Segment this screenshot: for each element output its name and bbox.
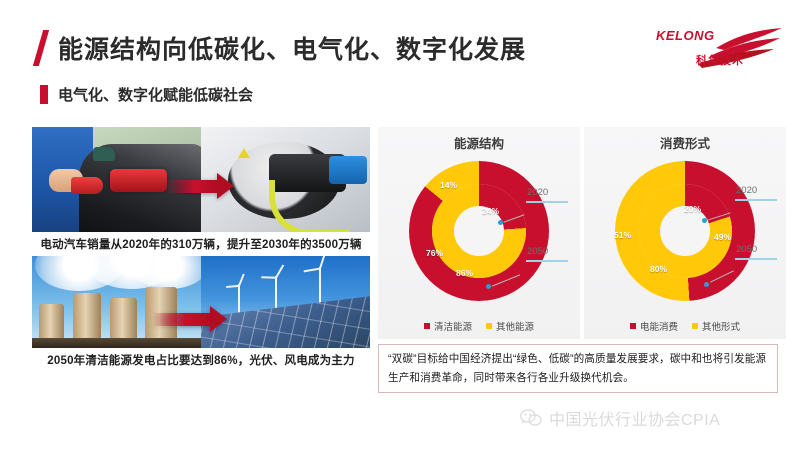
pct-label-outer-other: 51% [614, 230, 631, 240]
charge-cable-shape [269, 180, 349, 233]
photo-caption-ev: 电动汽车销量从2020年的310万辆，提升至2030年的3500万辆 [32, 232, 370, 256]
turbine-blade-shape [304, 268, 321, 273]
transition-arrow-icon [167, 173, 234, 199]
ground-shape [32, 338, 201, 348]
chart-title-consumption-form: 消费形式 [584, 133, 786, 152]
leader-dot-2020 [702, 218, 707, 223]
legend-item-clean-energy[interactable]: 清洁能源 [424, 319, 472, 333]
donut-inner-ring-2020 [432, 184, 526, 278]
pct-label-outer-clean: 86% [456, 268, 473, 278]
cooling-tower-shape [39, 304, 64, 341]
chart-panel-energy-structure: 能源结构 14% 86% 24% 76% 2020 2050 [378, 127, 580, 339]
pct-label-outer-electric: 49% [714, 232, 731, 242]
legend-item-electric-consumption[interactable]: 电能消费 [630, 319, 678, 333]
year-label-2020: 2020 [527, 187, 548, 198]
turbine-blade-shape [275, 265, 284, 279]
pct-label-inner-other: 80% [650, 264, 667, 274]
year-underline-2050 [526, 260, 568, 262]
page-title: 能源结构向低碳化、电气化、数字化发展 [58, 30, 526, 66]
page-subtitle: 电气化、数字化赋能低碳社会 [58, 84, 253, 105]
callout-box: “双碳”目标给中国经济提出“绿色、低碳”的高质量发展要求，碳中和也将引发能源生产… [378, 344, 778, 393]
legend-swatch-electric-consumption [630, 323, 636, 329]
transition-arrow-icon [154, 306, 227, 332]
warning-triangle-icon [238, 148, 250, 158]
chart-panel-consumption-form: 消费形式 20% 49% 51% 80% 2020 2050 [584, 127, 786, 339]
legend-item-other-form[interactable]: 其他形式 [692, 319, 740, 333]
cooling-tower-shape [110, 298, 137, 340]
photo-caption-energy: 2050年清洁能源发电占比要达到86%，光伏、风电成为主力 [32, 348, 370, 372]
donut-chart-energy-structure[interactable]: 14% 86% 24% 76% [404, 156, 554, 306]
wechat-icon [520, 409, 542, 427]
year-underline-2020 [526, 201, 568, 203]
photo-pair-energy [32, 256, 370, 348]
car-taillight-shape [110, 169, 167, 192]
brand-logo: KELONG 科华技术 [654, 22, 784, 74]
year-label-2050: 2050 [527, 246, 548, 257]
legend-label-other-energy: 其他能源 [496, 319, 534, 333]
pct-label-inner-clean: 24% [482, 206, 499, 216]
legend-swatch-clean-energy [424, 323, 430, 329]
page-title-row: 能源结构向低碳化、电气化、数字化发展 [38, 30, 526, 66]
legend-item-other-energy[interactable]: 其他能源 [486, 319, 534, 333]
year-underline-2050 [735, 258, 777, 260]
photo-column: 电动汽车销量从2020年的310万辆，提升至2030年的3500万辆 [32, 127, 370, 372]
cooling-tower-shape [73, 293, 102, 341]
title-accent-slash-icon [33, 30, 49, 66]
logo-brand-cn-text: 科华技术 [696, 52, 744, 68]
turbine-blade-shape [262, 277, 277, 280]
chart-legend-energy-structure: 清洁能源 其他能源 [378, 319, 580, 333]
footer-watermark: 中国光伏行业协会CPIA [520, 406, 720, 430]
leader-dot-2020 [498, 220, 503, 225]
chart-legend-consumption-form: 电能消费 其他形式 [584, 319, 786, 333]
fuel-nozzle-shape [71, 177, 103, 194]
leader-dot-2050 [486, 284, 491, 289]
pct-label-outer-other: 14% [440, 180, 457, 190]
turbine-blade-shape [238, 273, 245, 286]
photo-pair-ev [32, 127, 370, 232]
donut-chart-consumption-form[interactable]: 20% 49% 51% 80% [610, 156, 760, 306]
page-subtitle-row: 电气化、数字化赋能低碳社会 [40, 84, 253, 105]
wind-turbines-and-solar-panels-photo [201, 256, 370, 348]
legend-swatch-other-form [692, 323, 698, 329]
legend-label-clean-energy: 清洁能源 [434, 319, 472, 333]
chart-title-energy-structure: 能源结构 [378, 133, 580, 152]
year-label-2020: 2020 [736, 185, 757, 196]
legend-label-other-form: 其他形式 [702, 319, 740, 333]
turbine-blade-shape [319, 256, 326, 269]
charts-area: 能源结构 14% 86% 24% 76% 2020 2050 [378, 127, 786, 339]
logo-brand-text: KELONG [656, 28, 715, 43]
watermark-text: 中国光伏行业协会CPIA [549, 406, 720, 430]
leader-dot-2050 [704, 282, 709, 287]
subtitle-bullet-icon [40, 85, 48, 104]
pct-label-inner-electric: 20% [684, 204, 701, 214]
year-underline-2020 [735, 199, 777, 201]
coal-power-cooling-towers-photo [32, 256, 201, 348]
pct-label-inner-other: 76% [426, 248, 443, 258]
legend-label-electric-consumption: 电能消费 [640, 319, 678, 333]
legend-swatch-other-energy [486, 323, 492, 329]
year-label-2050: 2050 [736, 244, 757, 255]
car-mirror-shape [93, 147, 115, 161]
